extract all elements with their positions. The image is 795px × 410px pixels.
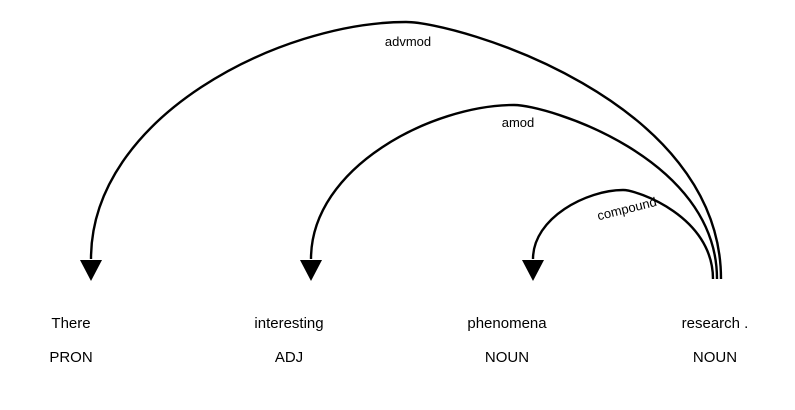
arc-relation-label: amod (502, 115, 535, 130)
arc-curve (311, 105, 717, 279)
tokens-layer: TherePRONinterestingADJphenomenaNOUNrese… (49, 315, 748, 366)
dependency-arc-advmod: advmod (80, 22, 721, 281)
arrow-head-icon (522, 260, 544, 281)
token-column: TherePRON (49, 315, 92, 366)
dependency-arc-amod: amod (300, 105, 717, 281)
token-column: phenomenaNOUN (467, 315, 547, 366)
arc-relation-label: advmod (385, 34, 431, 49)
token-word: phenomena (467, 315, 547, 332)
dependency-arcs-layer: advmodamodcompound (80, 22, 721, 281)
token-column: interestingADJ (254, 315, 323, 366)
arc-relation-label: compound (596, 194, 659, 223)
arrow-head-icon (80, 260, 102, 281)
dependency-arc-compound: compound (522, 190, 713, 281)
dependency-parse-figure: advmodamodcompound TherePRONinterestingA… (0, 0, 795, 410)
token-word: There (51, 315, 90, 332)
token-pos-tag: NOUN (693, 349, 737, 366)
arrow-head-icon (300, 260, 322, 281)
token-column: research .NOUN (682, 315, 749, 366)
token-word: interesting (254, 315, 323, 332)
parse-canvas: advmodamodcompound TherePRONinterestingA… (0, 0, 795, 410)
token-pos-tag: ADJ (275, 349, 303, 366)
token-pos-tag: PRON (49, 349, 92, 366)
token-word: research . (682, 315, 749, 332)
arc-curve (91, 22, 721, 279)
token-pos-tag: NOUN (485, 349, 529, 366)
